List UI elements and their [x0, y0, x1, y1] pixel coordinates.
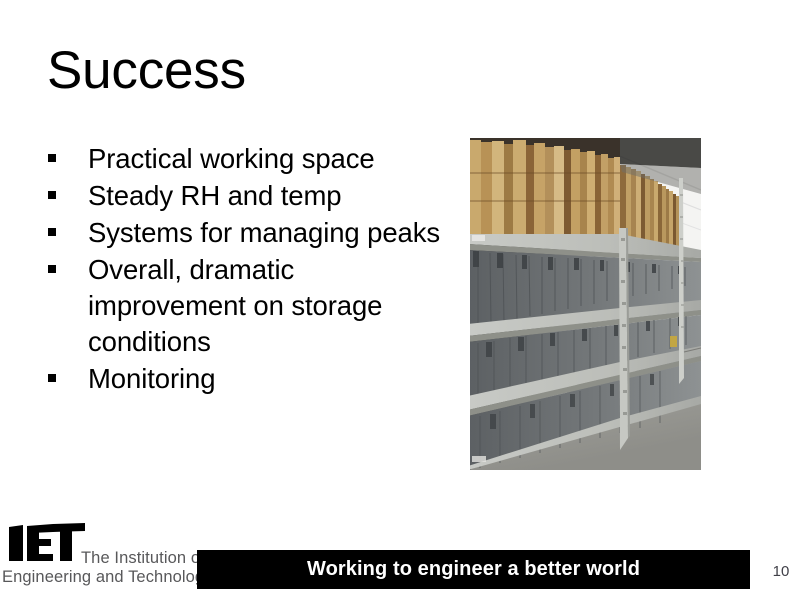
- iet-logo: The Institution of Engineering and Techn…: [2, 521, 198, 591]
- list-item: Overall, dramatic improvement on storage…: [46, 252, 444, 360]
- list-item-label: Practical working space: [88, 143, 375, 174]
- archive-shelving-photo: [470, 138, 701, 470]
- square-bullet-icon: [48, 191, 56, 199]
- footer-banner: Working to engineer a better world: [197, 550, 750, 589]
- bullet-list: Practical working space Steady RH and te…: [46, 141, 444, 398]
- logo-tagline-line1: The Institution of: [81, 549, 205, 568]
- slide-canvas: Success Practical working space Steady R…: [0, 0, 800, 600]
- square-bullet-icon: [48, 265, 56, 273]
- page-number: 10: [768, 563, 794, 580]
- footer-banner-text: Working to engineer a better world: [307, 558, 640, 581]
- list-item-label: Steady RH and temp: [88, 180, 341, 211]
- list-item: Systems for managing peaks: [46, 215, 444, 251]
- square-bullet-icon: [48, 374, 56, 382]
- square-bullet-icon: [48, 154, 56, 162]
- page-title: Success: [47, 38, 246, 104]
- logo-tagline-line2: Engineering and Technology: [2, 568, 213, 587]
- list-item-label: Systems for managing peaks: [88, 217, 440, 248]
- list-item: Practical working space: [46, 141, 444, 177]
- list-item-label: Overall, dramatic improvement on storage…: [88, 254, 382, 357]
- square-bullet-icon: [48, 228, 56, 236]
- list-item: Steady RH and temp: [46, 178, 444, 214]
- list-item-label: Monitoring: [88, 363, 215, 394]
- iet-monogram-icon: [6, 523, 86, 563]
- list-item: Monitoring: [46, 361, 444, 397]
